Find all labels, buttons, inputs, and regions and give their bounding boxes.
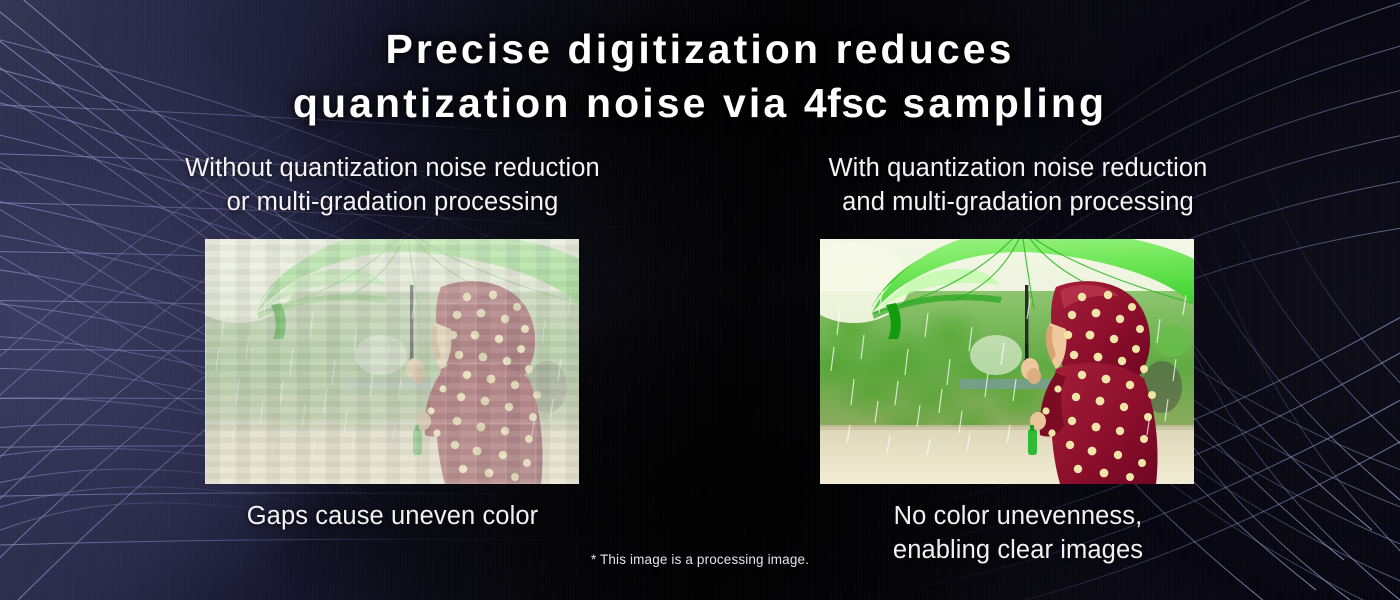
sample-image-without	[205, 239, 579, 484]
sample-image-with	[820, 239, 1194, 484]
panel-with-heading-line2: and multi-gradation processing	[718, 186, 1318, 220]
panel-without-heading: Without quantization noise reduction or …	[95, 152, 690, 219]
page-title-4fsc: 4fsc	[804, 80, 888, 126]
page-title-line2-c: sampling	[888, 80, 1107, 126]
caption-with-line1: No color unevenness,	[718, 500, 1318, 534]
caption-without-line1: Gaps cause uneven color	[95, 500, 690, 534]
slide-canvas: Precise digitization reduces quantizatio…	[0, 0, 1400, 600]
footnote: * This image is a processing image.	[0, 552, 1400, 567]
panel-with-heading: With quantization noise reduction and mu…	[718, 152, 1318, 219]
panel-without-heading-line1: Without quantization noise reduction	[95, 152, 690, 186]
page-title-line2-a: quantization noise via	[293, 80, 804, 126]
panel-without-heading-line2: or multi-gradation processing	[95, 186, 690, 220]
caption-without: Gaps cause uneven color	[95, 500, 690, 534]
panel-with: With quantization noise reduction and mu…	[718, 152, 1318, 219]
page-title-line1: Precise digitization reduces	[385, 26, 1014, 72]
panel-without: Without quantization noise reduction or …	[95, 152, 690, 219]
panel-with-heading-line1: With quantization noise reduction	[718, 152, 1318, 186]
page-title: Precise digitization reduces quantizatio…	[0, 22, 1400, 130]
